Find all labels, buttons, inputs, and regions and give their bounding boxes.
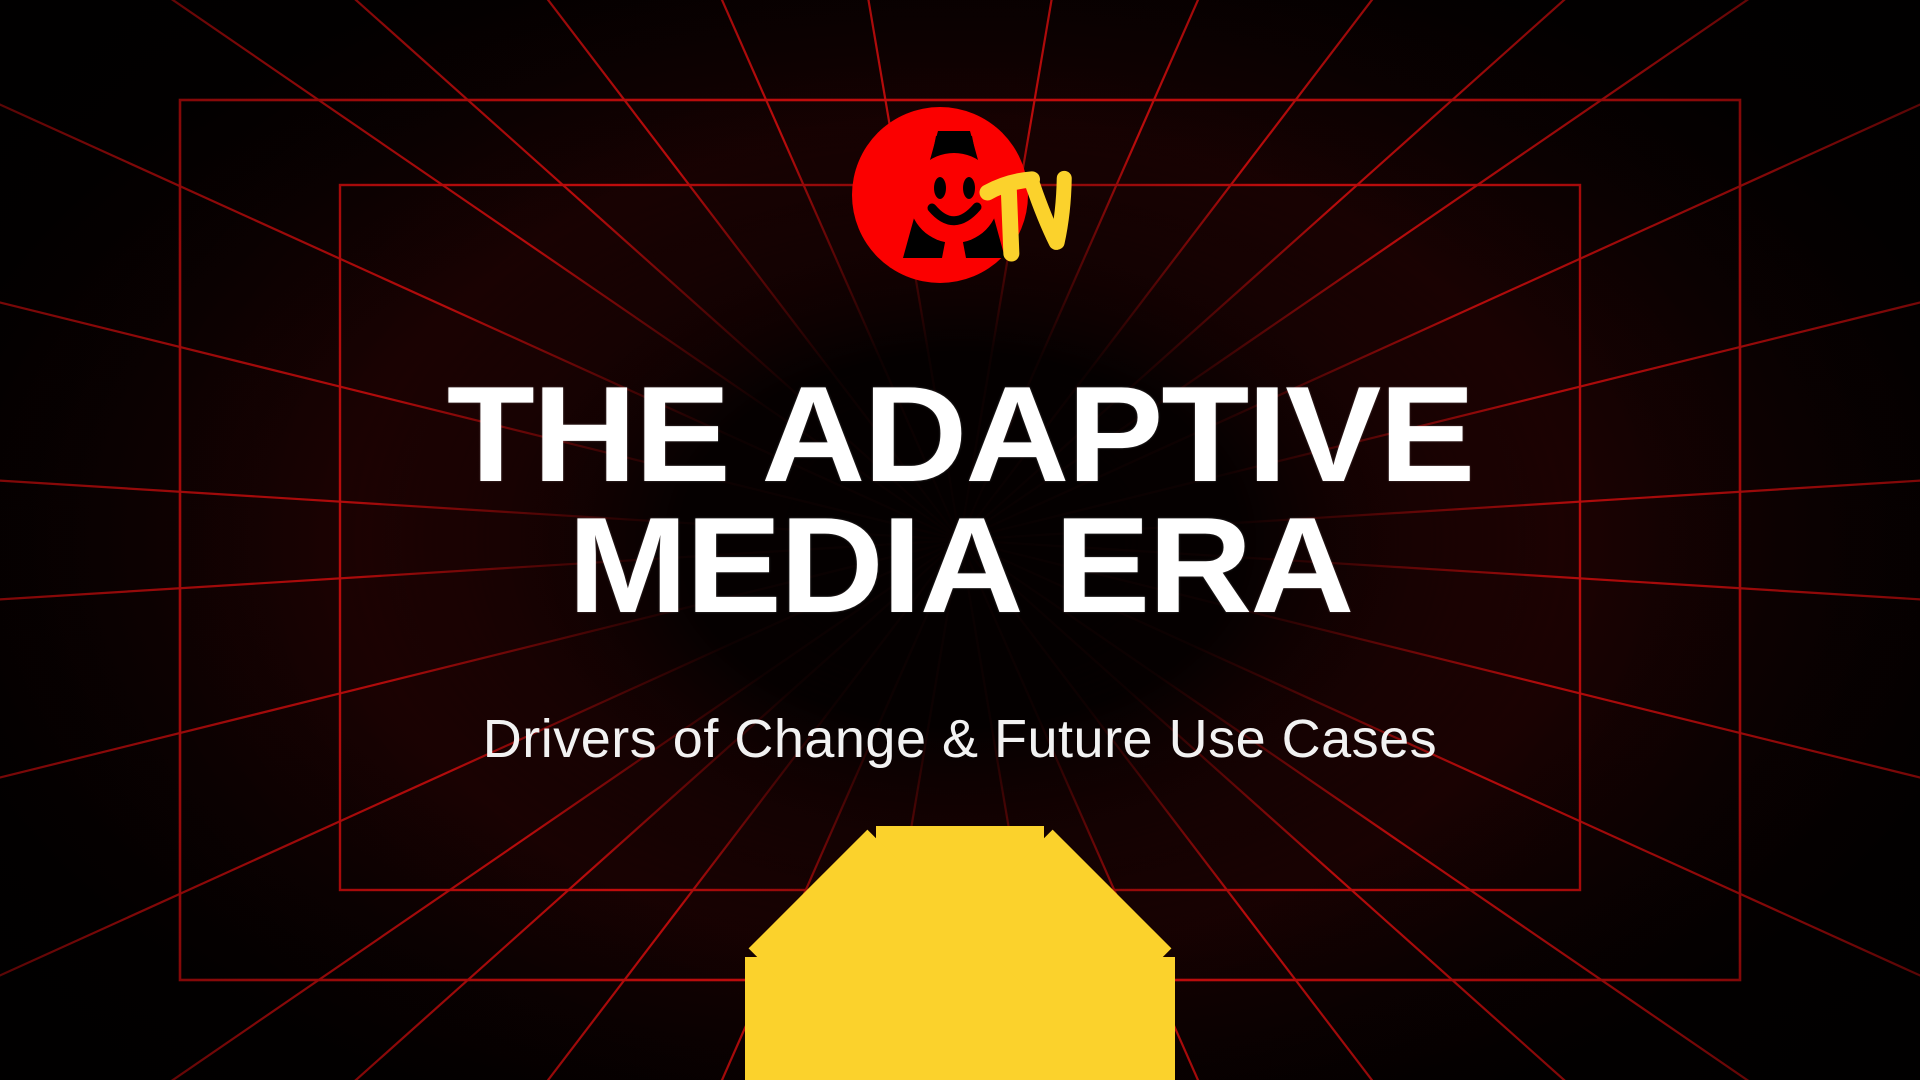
a-tv-logo bbox=[840, 100, 1080, 290]
headline-line-1: THE ADAPTIVE bbox=[0, 372, 1920, 497]
headline-block: THE ADAPTIVE MEDIA ERA bbox=[0, 372, 1920, 628]
yellow-asterisk bbox=[745, 826, 1175, 1080]
logo-smiley-eye-right bbox=[963, 177, 975, 199]
a-tv-logo-mark bbox=[840, 100, 1080, 290]
headline-line-2: MEDIA ERA bbox=[0, 503, 1920, 628]
logo-smiley-eye-left bbox=[934, 177, 946, 199]
subtitle: Drivers of Change & Future Use Cases bbox=[0, 708, 1920, 770]
title-slide: THE ADAPTIVE MEDIA ERA Drivers of Change… bbox=[0, 0, 1920, 1080]
